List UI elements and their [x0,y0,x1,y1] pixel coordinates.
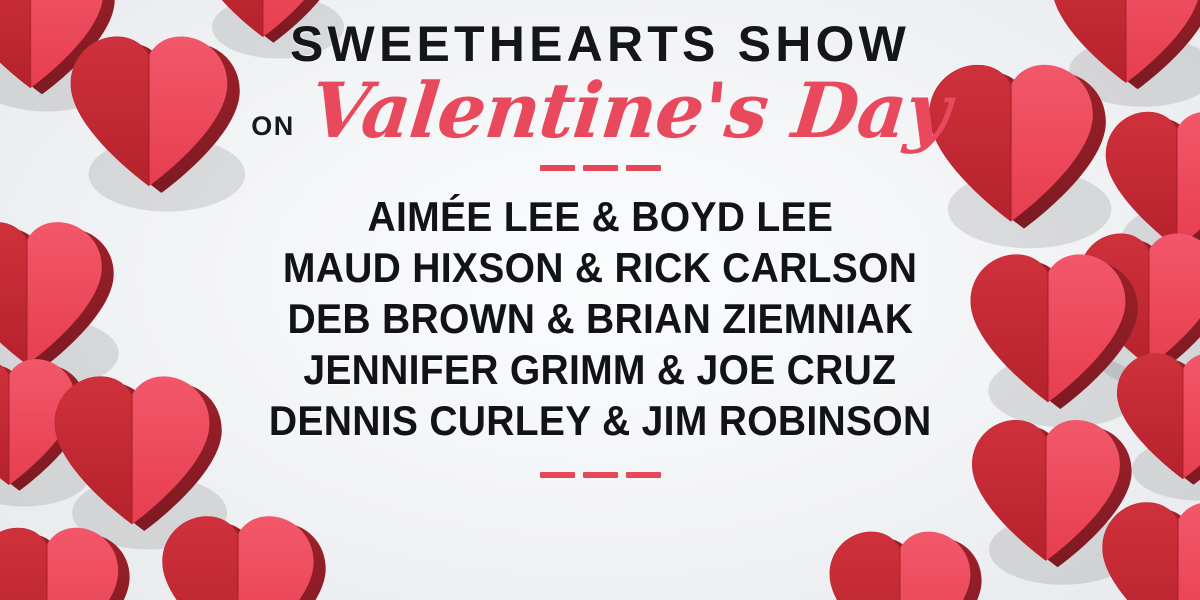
performer-line: DENNIS CURLEY & JIM ROBINSON [269,397,932,445]
divider-dash [583,472,618,478]
page-title: SWEETHEARTS SHOW [290,19,910,69]
divider-dash [540,165,575,171]
divider-bottom [540,472,661,478]
subtitle-prefix: ON [251,111,295,142]
divider-top [540,165,661,171]
valentines-poster: SWEETHEARTS SHOW ON Valentine's Day AIMÉ… [0,0,1200,600]
subtitle-script-text: Valentine's Day [307,75,953,147]
performer-line: AIMÉE LEE & BOYD LEE [367,193,833,241]
divider-dash [626,165,661,171]
divider-dash [583,165,618,171]
divider-dash [540,472,575,478]
performer-line: JENNIFER GRIMM & JOE CRUZ [304,346,897,394]
divider-dash [626,472,661,478]
performer-list: AIMÉE LEE & BOYD LEEMAUD HIXSON & RICK C… [244,193,956,444]
performer-line: DEB BROWN & BRIAN ZIEMNIAK [287,295,913,343]
poster-content: SWEETHEARTS SHOW ON Valentine's Day AIMÉ… [0,0,1200,600]
subtitle: ON Valentine's Day [251,75,949,147]
performer-line: MAUD HIXSON & RICK CARLSON [283,244,917,292]
